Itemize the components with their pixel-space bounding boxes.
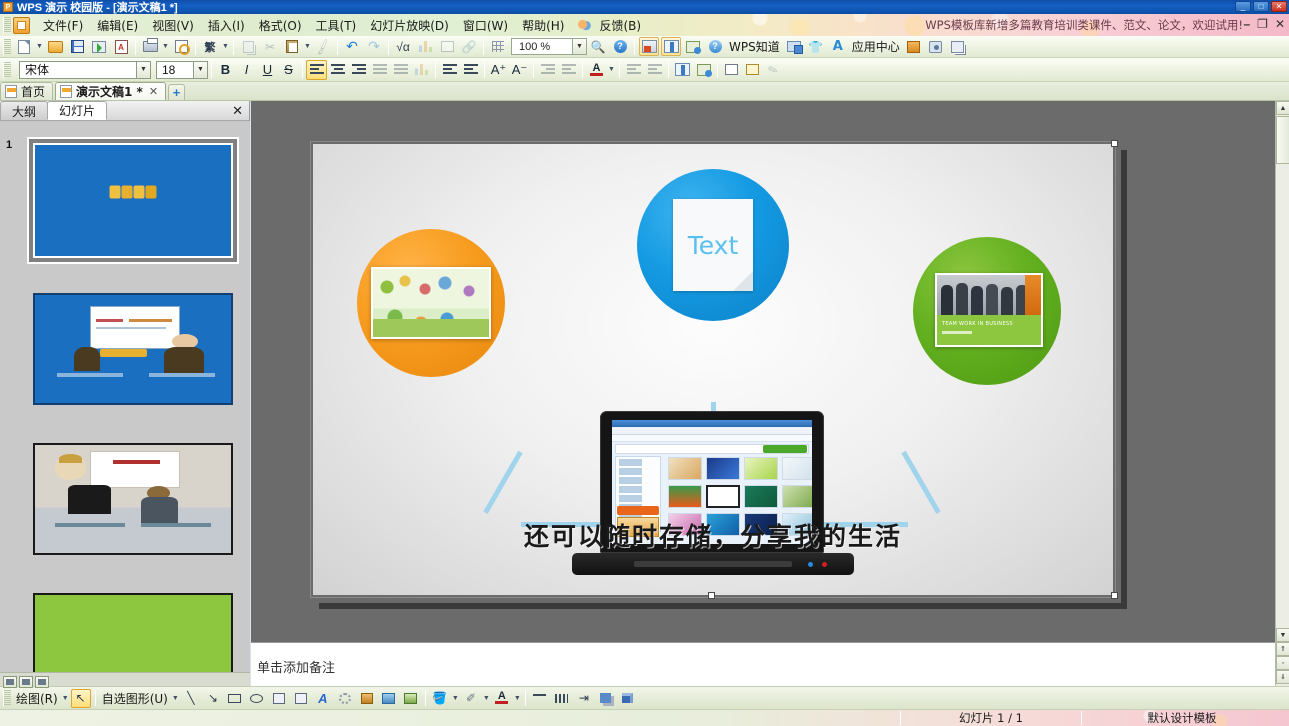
line-spacing-button[interactable] [623,60,644,80]
screenshot-icon[interactable] [784,37,804,56]
line-color-dropdown-icon[interactable]: ▼ [482,689,491,708]
decrease-font-icon: A⁻ [512,62,528,78]
table-icon[interactable] [437,37,457,56]
format-separator [533,62,534,78]
scroll-down-button[interactable]: ▼ [1276,628,1289,642]
line-color-icon[interactable]: ✐ [461,689,481,708]
bold-label: B [221,62,230,77]
menu-tools[interactable]: 工具(T) [309,15,364,36]
mdi-restore-button[interactable]: ❐ [1257,18,1268,30]
scrollbar-thumb[interactable] [1276,116,1289,164]
menu-bar: 文件(F) 编辑(E) 视图(V) 插入(I) 格式(O) 工具(T) 幻灯片放… [0,14,1289,36]
toolbar-separator [337,39,338,55]
save-icon[interactable] [67,37,87,56]
new-slide-icon [675,63,690,76]
arrow-style-icon[interactable]: ⇥ [574,689,594,708]
help-icon[interactable]: ? [610,37,630,56]
format-painter-icon[interactable]: 🖌 [313,37,333,56]
wordart-icon[interactable]: A [313,689,333,708]
slide-title-text[interactable]: 还可以随时存储，分享我的生活 [313,517,1113,553]
resize-handle-bottom-center[interactable] [708,592,715,599]
increase-indent-icon [562,64,576,75]
underline-button[interactable]: U [257,60,278,80]
font-color-toolbar-dropdown-icon[interactable]: ▼ [513,689,522,708]
autoshapes-menu-button[interactable]: 自选图形(U) [99,690,171,707]
slide-editor-area: Text TEAM WORK IN BUSINESS [251,101,1289,642]
wps-logo-icon [13,17,30,34]
distribute-icon [394,64,408,75]
italic-button[interactable]: I [236,60,257,80]
toolbar-grip-handle[interactable] [3,39,11,55]
align-right-icon [352,64,366,75]
drawbar-separator [425,690,426,706]
export-icon[interactable] [89,37,109,56]
camera-icon[interactable] [926,37,946,56]
toolbar-separator [195,39,196,55]
center-card-text: Text [673,199,753,291]
clipart-icon[interactable] [357,689,377,708]
document-tab-presentation1[interactable]: 演示文稿1 * ✕ [55,82,166,100]
minimize-button[interactable]: _ [1235,1,1251,12]
italic-label: I [245,62,249,77]
shadow-style-icon[interactable] [596,689,616,708]
format-separator [484,62,485,78]
select-arrow-icon[interactable]: ↖ [71,689,91,708]
wps-zhidao-label[interactable]: WPS知道 [726,38,783,55]
menu-insert[interactable]: 插入(I) [201,15,252,36]
tab-outline[interactable]: 大纲 [0,101,48,120]
site-cta-button [763,445,807,453]
slide-design-button[interactable] [693,60,714,80]
fill-color-icon[interactable]: 🪣 [430,689,450,708]
site-promo-banner [617,506,659,515]
rectangle-icon[interactable] [225,689,245,708]
increase-indent-button[interactable] [558,60,579,80]
vertical-textbox-icon[interactable] [291,689,311,708]
maximize-button[interactable]: □ [1253,1,1269,12]
increase-font-button[interactable]: A⁺ [488,60,509,80]
toolbar-separator [135,39,136,55]
copy-icon[interactable] [238,37,258,56]
slide-canvas-wrapper: Text TEAM WORK IN BUSINESS [313,144,1121,603]
font-color-button[interactable]: A [586,60,607,80]
paste-icon[interactable] [282,37,302,56]
illustration-cartoon-image [371,267,491,339]
menu-window[interactable]: 窗口(W) [456,15,515,36]
slideshow-view-button[interactable] [35,676,49,688]
resource-icon[interactable] [683,37,703,56]
template-red-icon[interactable] [639,37,659,56]
menu-slideshow[interactable]: 幻灯片放映(D) [363,15,456,36]
numbered-list-button[interactable] [439,60,460,80]
hyperlink-icon[interactable]: 🔗 [459,37,479,56]
decrease-font-button[interactable]: A⁻ [509,60,530,80]
home-tab-icon [5,85,17,98]
traditional-chinese-icon[interactable]: 繁 [200,37,220,56]
status-bar: 幻灯片 1 / 1 默认设计模板 [0,709,1289,726]
vertical-align-icon [415,64,428,75]
font-size-dropdown-icon[interactable]: ▼ [194,61,208,79]
view-mode-buttons [3,676,49,688]
bulleted-list-icon [464,64,478,75]
slide-counter: 幻灯片 1 / 1 [901,710,1081,726]
zoom-input[interactable]: 100 % [511,38,573,55]
notes-placeholder[interactable]: 单击添加备注 [257,657,335,676]
font-color-letter: A [593,64,601,73]
slides-thumbnail-list[interactable]: 1 [0,121,250,686]
oval-icon[interactable] [247,689,267,708]
toolbar-separator [483,39,484,55]
font-name-dropdown-icon[interactable]: ▼ [137,61,151,79]
slide-number-1: 1 [6,139,12,151]
wps-presentation-window: P WPS 演示 校园版 - [演示文稿1 *] _ □ ✕ 文件(F) 编辑(… [0,0,1289,726]
pdf-icon[interactable]: A [111,37,131,56]
align-right-button[interactable] [348,60,369,80]
notes-pane[interactable]: 单击添加备注 [251,642,1275,686]
textbox-icon[interactable] [269,689,289,708]
color-scheme-icon [746,64,759,75]
normal-view-button[interactable] [3,676,17,688]
3d-style-icon[interactable] [618,689,638,708]
dash-style-icon[interactable] [552,689,572,708]
toolbar-separator [388,39,389,55]
connector-left-diagonal [483,451,522,514]
next-slide-button[interactable]: ⇓ [1276,670,1289,684]
slide-canvas[interactable]: Text TEAM WORK IN BUSINESS [313,144,1113,595]
list-item[interactable] [33,293,233,405]
template-blue-icon[interactable] [661,37,681,56]
title-bar: P WPS 演示 校园版 - [演示文稿1 *] _ □ ✕ [0,0,1289,14]
document-tab-icon [60,85,72,98]
skin-icon[interactable]: 👕 [806,37,826,56]
window-icon[interactable] [948,37,968,56]
distribute-button[interactable] [390,60,411,80]
autoshapes-dropdown-icon[interactable]: ▼ [171,689,180,708]
align-left-button[interactable] [306,60,327,80]
print-icon[interactable] [140,37,160,56]
menu-edit[interactable]: 编辑(E) [90,15,145,36]
formula-icon[interactable]: √α [393,37,413,56]
diagram-icon[interactable] [335,689,355,708]
feedback-icon [577,19,591,31]
format-separator [717,62,718,78]
format-separator [619,62,620,78]
menu-file[interactable]: 文件(F) [36,15,90,36]
font-size-input[interactable]: 18 [156,61,194,79]
zoom-dropdown-icon[interactable]: ▼ [573,38,587,55]
draw-menu-button[interactable]: 绘图(R) [13,690,61,707]
bold-button[interactable]: B [215,60,236,80]
browser-toolbar [612,427,812,435]
user-icon[interactable] [904,37,924,56]
close-button[interactable]: ✕ [1271,1,1287,12]
home-tab[interactable]: 首页 [0,82,53,100]
align-justify-icon [373,64,387,75]
circle-left[interactable] [357,229,505,377]
laptop-base [572,553,854,575]
laptop-led-blue [808,562,813,567]
paragraph-spacing-icon [648,64,662,75]
design-template-name[interactable]: 默认设计模板 [1082,710,1282,726]
align-center-icon [331,64,345,75]
wps-presentation-icon: P [3,2,13,12]
menu-grip-handle[interactable] [3,17,11,33]
line-style-icon[interactable] [530,689,550,708]
window-title: WPS 演示 校园版 - [演示文稿1 *] [17,0,178,15]
drawbar-separator [525,690,526,706]
new-tab-button[interactable]: + [168,84,185,100]
formatting-toolbar: 宋体 ▼ 18 ▼ B I U S A⁺ A⁻ A ▼ [0,58,1289,82]
mdi-window-controls: – ❐ ✕ [1243,18,1285,30]
circle-center[interactable]: Text [637,169,789,321]
align-left-icon [310,64,324,75]
promo-banner[interactable]: WPS模板库新增多篇教育培训类课件、范文、论文，欢迎试用! [925,17,1243,33]
arrow-icon[interactable]: ↘ [203,689,223,708]
increase-font-icon: A⁺ [491,62,507,78]
format-separator [668,62,669,78]
fill-color-dropdown-icon[interactable]: ▼ [451,689,460,708]
mdi-minimize-button[interactable]: – [1243,18,1250,30]
list-item[interactable] [33,443,233,555]
resize-handle-top-right[interactable] [1111,140,1118,147]
strikethrough-button[interactable]: S [278,60,299,80]
open-icon[interactable] [45,37,65,56]
font-name-input[interactable]: 宋体 [19,61,137,79]
toolbar-separator [233,39,234,55]
strikethrough-label: S [284,62,293,77]
slides-panel-tabs: 大纲 幻灯片 ✕ [0,101,249,121]
format-separator [211,62,212,78]
slide-layout-icon [725,64,738,75]
bulleted-list-button[interactable] [460,60,481,80]
numbered-list-icon [443,64,457,75]
home-tab-label: 首页 [21,83,45,100]
reset-view-button[interactable]: ◦ [1276,656,1289,670]
align-center-button[interactable] [327,60,348,80]
business-team-photo: TEAM WORK IN BUSINESS [935,273,1043,347]
drawing-toolbar: 绘图(R) ▼ ↖ 自选图形(U) ▼ ╲ ↘ A 🪣 ▼ ✐ ▼ A ▼ ⇥ [0,686,1289,709]
find-icon[interactable]: 🔍 [588,37,608,56]
vertical-align-button[interactable] [411,60,432,80]
menu-view[interactable]: 视图(V) [145,15,201,36]
list-item[interactable] [33,143,233,258]
slide-design-icon [697,64,711,76]
browser-titlebar [612,420,812,427]
line-spacing-icon [627,64,641,75]
paste-dropdown-icon[interactable]: ▼ [303,37,312,56]
chinese-dropdown-icon[interactable]: ▼ [221,37,230,56]
photo-caption: TEAM WORK IN BUSINESS [942,321,1013,327]
new-slide-button[interactable] [672,60,693,80]
window-controls: _ □ ✕ [1235,1,1287,12]
laptop-led-red [822,562,827,567]
previous-slide-button[interactable]: ⇑ [1276,642,1289,656]
decrease-indent-icon [541,64,555,75]
wps-zhidao-icon[interactable]: ? [705,37,725,56]
underline-label: U [263,62,272,77]
slide-sorter-view-button[interactable] [19,676,33,688]
format-separator [435,62,436,78]
format-toolbar-grip-handle[interactable] [3,62,11,78]
font-color-dropdown-icon[interactable]: ▼ [607,60,616,79]
toolbar-separator [634,39,635,55]
cut-icon[interactable]: ✂ [260,37,280,56]
slides-panel: 大纲 幻灯片 ✕ 1 [0,101,250,686]
insert-image-icon[interactable] [401,689,421,708]
paragraph-spacing-button[interactable] [644,60,665,80]
undo-icon[interactable]: ↶ [342,37,362,56]
editor-vertical-scrollbar[interactable]: ▲ ▼ ⇑ ◦ ⇓ [1275,101,1289,686]
app-center-icon[interactable]: A [828,37,848,56]
slides-panel-close-icon[interactable]: ✕ [232,103,243,119]
align-justify-button[interactable] [369,60,390,80]
decrease-indent-button[interactable] [537,60,558,80]
draw-menu-dropdown-icon[interactable]: ▼ [61,689,70,708]
document-tab-label: 演示文稿1 * [76,83,143,100]
scroll-up-button[interactable]: ▲ [1276,101,1289,115]
animation-button[interactable]: ✎ [763,60,784,80]
status-left-empty [0,710,900,726]
picture-icon[interactable] [379,689,399,708]
font-color-icon: A [590,64,603,76]
browser-addressbar [612,435,812,442]
tab-slides[interactable]: 幻灯片 [47,101,107,120]
resize-handle-bottom-right[interactable] [1111,592,1118,599]
mdi-close-button[interactable]: ✕ [1275,18,1285,30]
format-separator [582,62,583,78]
new-icon[interactable] [14,37,34,56]
document-tab-close-icon[interactable]: ✕ [149,85,158,98]
font-color-icon[interactable]: A [492,689,512,708]
laptop-touchbar [634,561,792,567]
menu-help[interactable]: 帮助(H) [515,15,571,36]
standard-toolbar: ▼ A ▼ 繁 ▼ ✂ ▼ 🖌 ↶ ↷ √α 🔗 100 % ▼ 🔍 ? [0,36,1289,58]
drawbar-grip-handle[interactable] [3,690,11,706]
menu-format[interactable]: 格式(O) [252,15,309,36]
connector-right-diagonal [901,451,940,514]
slide-layout-button[interactable] [721,60,742,80]
new-dropdown-icon[interactable]: ▼ [35,37,44,56]
grid-icon[interactable] [488,37,508,56]
color-scheme-button[interactable] [742,60,763,80]
chart-icon[interactable] [415,37,435,56]
redo-icon[interactable]: ↷ [364,37,384,56]
line-icon[interactable]: ╲ [181,689,201,708]
document-tab-strip: 首页 演示文稿1 * ✕ + [0,82,1289,101]
format-separator [302,62,303,78]
text-note-card: Text [673,199,753,291]
app-center-label[interactable]: 应用中心 [849,38,903,55]
menu-feedback[interactable]: 反馈(B) [592,15,648,36]
print-dropdown-icon[interactable]: ▼ [161,37,170,56]
print-preview-icon[interactable] [171,37,191,56]
drawbar-separator [95,690,96,706]
circle-right[interactable]: TEAM WORK IN BUSINESS [913,237,1061,385]
